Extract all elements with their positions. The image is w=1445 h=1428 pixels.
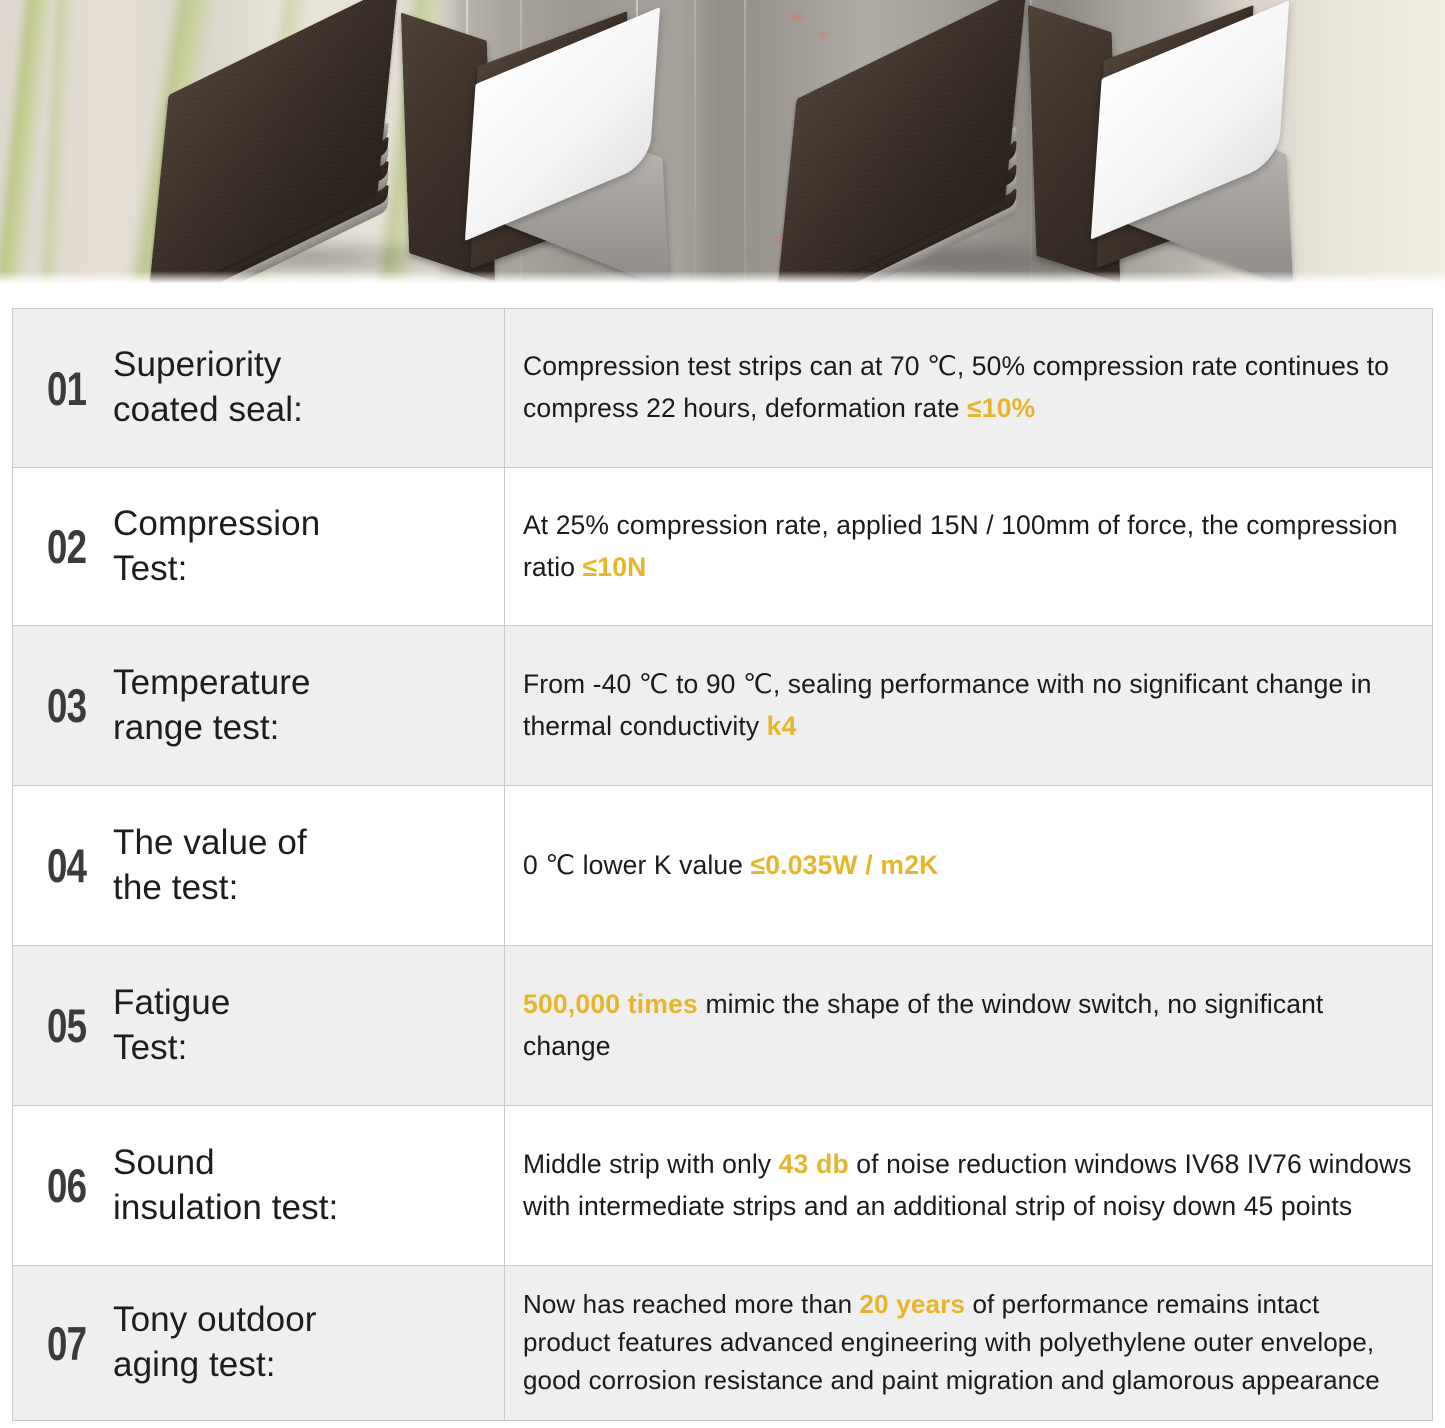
table-cell-description: Now has reached more than 20 years of pe… (505, 1266, 1432, 1420)
row-label-line1: Compression (113, 504, 320, 543)
row-label-line2: insulation test: (113, 1188, 338, 1227)
table-cell-description: Middle strip with only 43 db of noise re… (505, 1106, 1432, 1265)
table-cell-label: 03 Temperature range test: (13, 626, 505, 785)
paint-speck-decor (818, 32, 827, 37)
row-label-line1: Temperature (113, 663, 311, 702)
table-cell-label: 01 Superiority coated seal: (13, 309, 505, 467)
description-before: At 25% compression rate, applied 15N / 1… (523, 510, 1398, 582)
row-description: At 25% compression rate, applied 15N / 1… (523, 505, 1414, 589)
row-label-line2: Test: (113, 549, 187, 588)
row-number: 01 (47, 365, 103, 412)
row-label-line2: aging test: (113, 1345, 276, 1384)
row-description: From -40 ℃ to 90 ℃, sealing performance … (523, 664, 1414, 748)
table-row: 03 Temperature range test: From -40 ℃ to… (13, 626, 1432, 786)
table-cell-description: Compression test strips can at 70 ℃, 50%… (505, 309, 1432, 467)
description-highlight: ≤0.035W / m2K (750, 850, 938, 880)
infographic-page: 01 Superiority coated seal: Compression … (0, 0, 1445, 1428)
hero-bottom-fade (0, 271, 1445, 287)
row-label-line2: range test: (113, 708, 279, 747)
door-frame-seam (694, 0, 696, 287)
table-row: 02 Compression Test: At 25% compression … (13, 468, 1432, 626)
row-label-line1: Sound (113, 1143, 215, 1182)
description-before: 0 ℃ lower K value (523, 850, 750, 880)
description-highlight: 500,000 times (523, 989, 698, 1019)
table-cell-description: From -40 ℃ to 90 ℃, sealing performance … (505, 626, 1432, 785)
row-number: 06 (47, 1162, 103, 1209)
description-before: Middle strip with only (523, 1149, 779, 1179)
row-label-line1: The value of (113, 823, 307, 862)
row-number: 07 (47, 1320, 103, 1367)
row-number: 03 (47, 682, 103, 729)
row-label: Tony outdoor aging test: (113, 1298, 317, 1388)
row-label-line1: Tony outdoor (113, 1300, 317, 1339)
table-cell-description: 500,000 times mimic the shape of the win… (505, 946, 1432, 1105)
description-highlight: ≤10% (967, 393, 1035, 423)
row-description: Middle strip with only 43 db of noise re… (523, 1144, 1414, 1228)
row-label: The value of the test: (113, 821, 307, 911)
row-number: 02 (47, 523, 103, 570)
table-cell-label: 06 Sound insulation test: (13, 1106, 505, 1265)
row-description: Compression test strips can at 70 ℃, 50%… (523, 346, 1414, 430)
table-cell-label: 02 Compression Test: (13, 468, 505, 625)
description-before: Now has reached more than (523, 1289, 859, 1319)
table-cell-label: 05 Fatigue Test: (13, 946, 505, 1105)
row-label: Superiority coated seal: (113, 343, 303, 433)
row-label: Fatigue Test: (113, 981, 230, 1071)
row-number: 05 (47, 1002, 103, 1049)
row-label: Sound insulation test: (113, 1141, 338, 1231)
table-row: 06 Sound insulation test: Middle strip w… (13, 1106, 1432, 1266)
row-description: 500,000 times mimic the shape of the win… (523, 984, 1414, 1068)
description-before: From -40 ℃ to 90 ℃, sealing performance … (523, 669, 1372, 741)
door-frame-seam (744, 0, 746, 287)
hero-product-photo (0, 0, 1445, 287)
table-cell-label: 04 The value of the test: (13, 786, 505, 945)
row-label-line1: Fatigue (113, 983, 230, 1022)
row-label-line1: Superiority (113, 345, 281, 384)
description-highlight: 43 db (779, 1149, 849, 1179)
paint-speck-decor (790, 14, 804, 21)
row-label-line2: coated seal: (113, 390, 303, 429)
row-label: Compression Test: (113, 502, 320, 592)
description-highlight: ≤10N (583, 552, 647, 582)
row-label-line2: Test: (113, 1028, 187, 1067)
description-highlight: 20 years (859, 1289, 965, 1319)
row-number: 04 (47, 842, 103, 889)
table-cell-description: At 25% compression rate, applied 15N / 1… (505, 468, 1432, 625)
description-highlight: k4 (767, 711, 797, 741)
row-label-line2: the test: (113, 868, 238, 907)
table-cell-description: 0 ℃ lower K value ≤0.035W / m2K (505, 786, 1432, 945)
row-label: Temperature range test: (113, 661, 311, 751)
table-row: 05 Fatigue Test: 500,000 times mimic the… (13, 946, 1432, 1106)
table-row: 04 The value of the test: 0 ℃ lower K va… (13, 786, 1432, 946)
row-description: 0 ℃ lower K value ≤0.035W / m2K (523, 845, 938, 887)
description-before: Compression test strips can at 70 ℃, 50%… (523, 351, 1389, 423)
table-row: 01 Superiority coated seal: Compression … (13, 309, 1432, 468)
table-row: 07 Tony outdoor aging test: Now has reac… (13, 1266, 1432, 1421)
spec-table: 01 Superiority coated seal: Compression … (12, 308, 1433, 1421)
row-description: Now has reached more than 20 years of pe… (523, 1286, 1414, 1400)
table-cell-label: 07 Tony outdoor aging test: (13, 1266, 505, 1420)
